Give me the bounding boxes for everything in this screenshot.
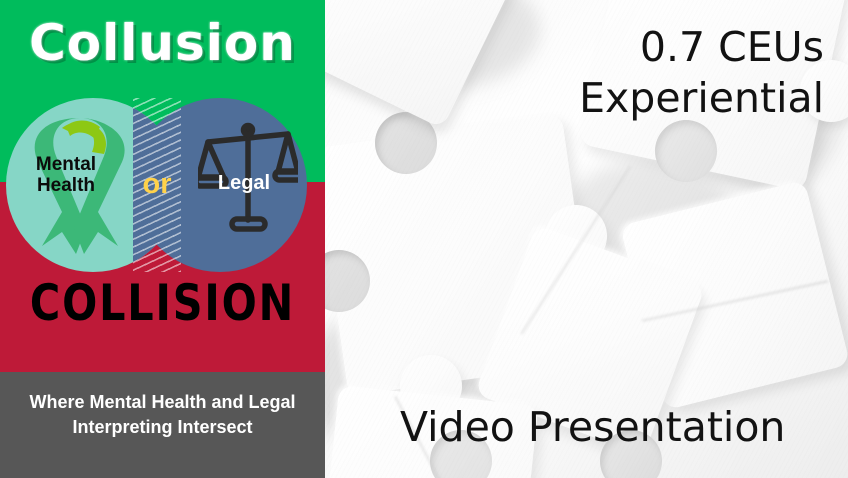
venn-diagram: Mental Health or Legal (0, 98, 325, 274)
venn-label-mental-health: Mental Health (6, 154, 126, 196)
poster-title-collusion: Collusion (0, 18, 325, 68)
slide-canvas: Collusion (0, 0, 848, 478)
presentation-format: Video Presentation (400, 403, 830, 451)
ceu-type: Experiential (404, 73, 824, 124)
ceu-info: 0.7 CEUs Experiential (404, 22, 824, 124)
ceu-amount: 0.7 CEUs (404, 22, 824, 73)
poster-tagline: Where Mental Health and Legal Interpreti… (12, 390, 313, 440)
venn-label-legal: Legal (196, 172, 292, 195)
course-poster-graphic: Collusion (0, 0, 325, 478)
poster-title-collision: COLLISION (13, 278, 312, 328)
venn-label-or: or (133, 168, 181, 201)
